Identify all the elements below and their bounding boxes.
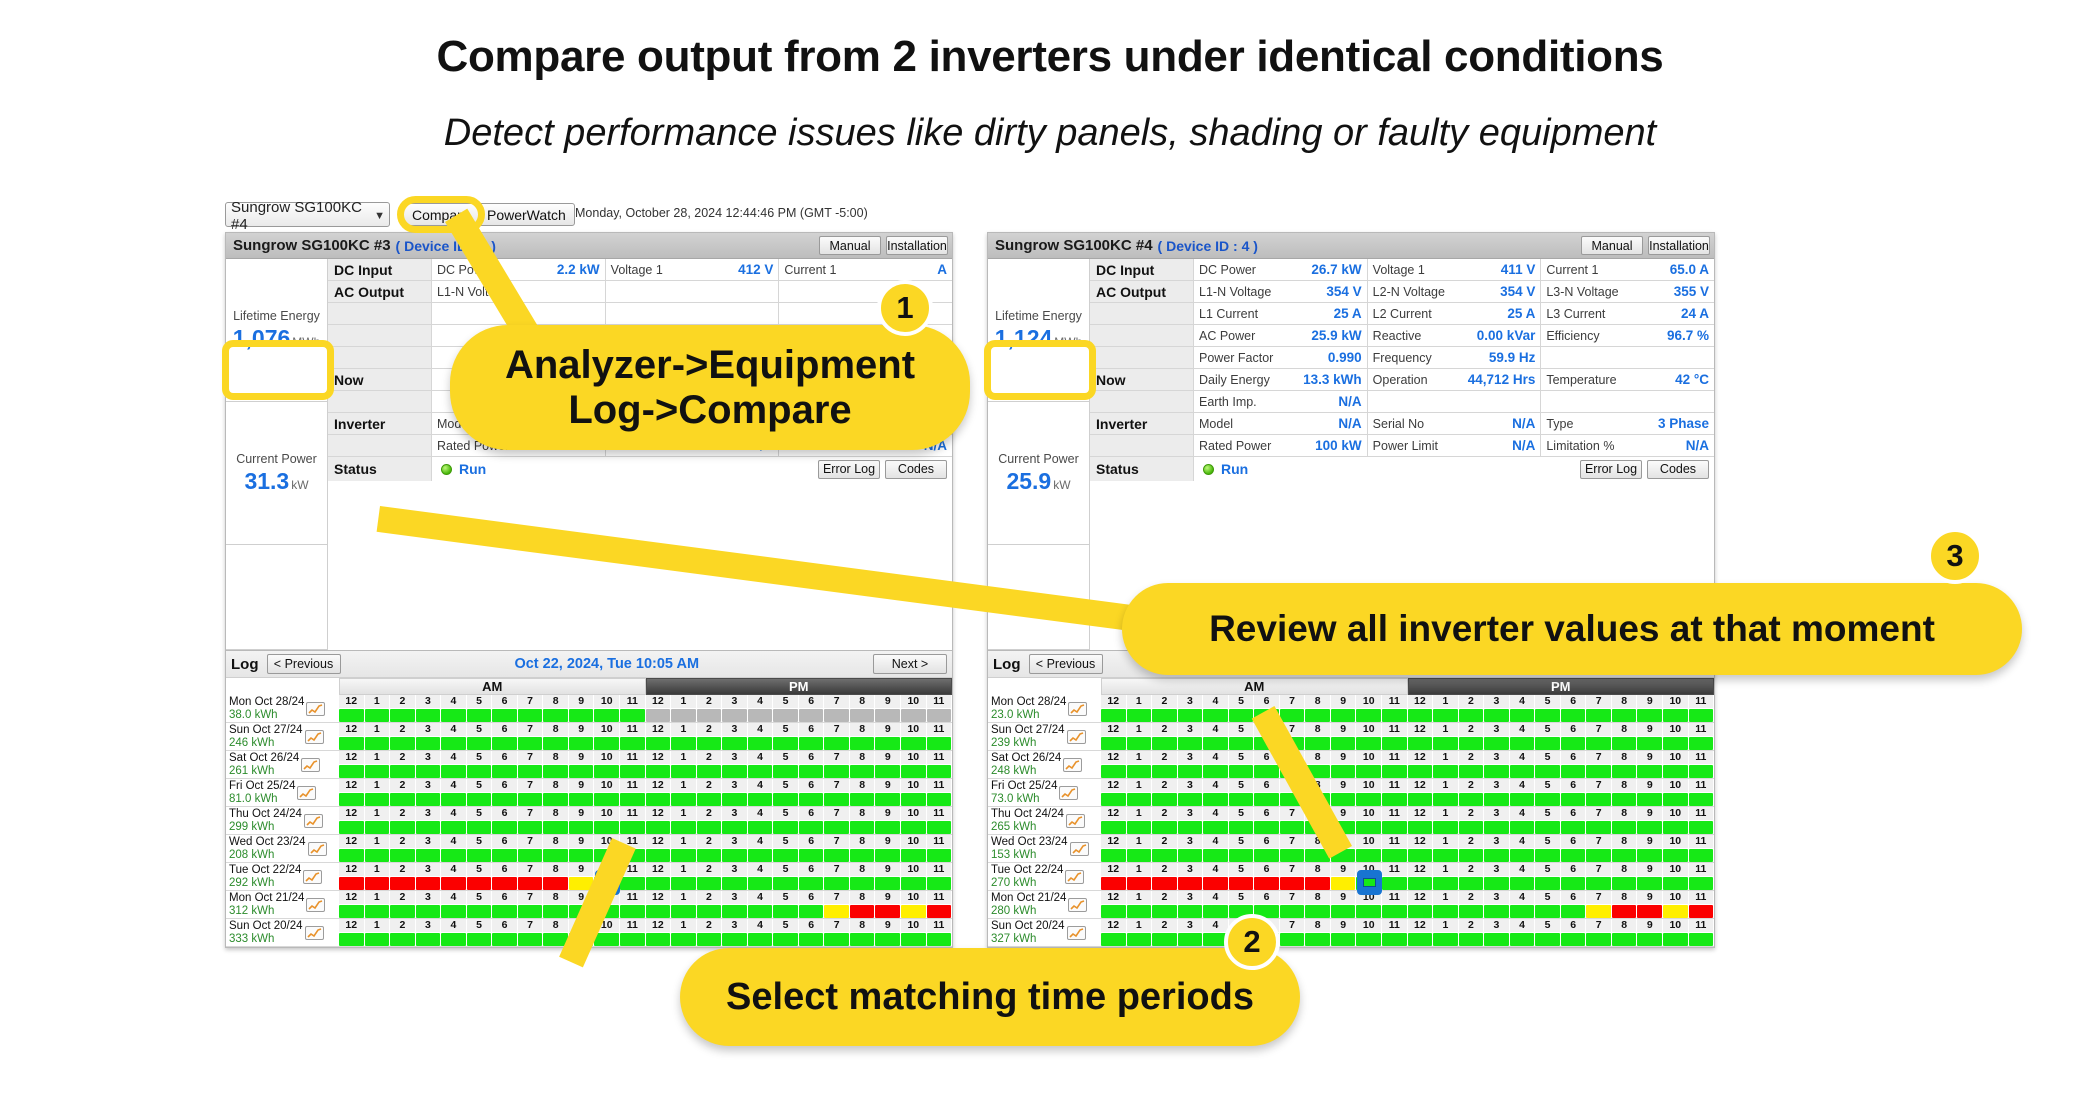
hour-bar[interactable] [492, 793, 517, 806]
hour-bar[interactable] [901, 765, 926, 778]
hour-bar[interactable] [1459, 905, 1484, 918]
hour-bar[interactable] [1510, 821, 1535, 834]
hour-bar[interactable] [594, 709, 619, 722]
hour-bar[interactable] [1229, 737, 1254, 750]
hour-bar[interactable] [492, 933, 517, 946]
hour-bar[interactable] [824, 877, 849, 890]
hour-bar[interactable] [1203, 793, 1228, 806]
hour-bar[interactable] [875, 933, 900, 946]
hour-bar[interactable] [1535, 905, 1560, 918]
hour-bar[interactable] [1178, 933, 1203, 946]
hour-bar[interactable] [339, 793, 364, 806]
hour-bar[interactable] [748, 793, 773, 806]
hour-bar[interactable] [1408, 933, 1433, 946]
hour-bar[interactable] [620, 821, 645, 834]
hour-bar[interactable] [441, 905, 466, 918]
hour-bar[interactable] [697, 905, 722, 918]
previous-button[interactable]: < Previous [267, 654, 341, 674]
hour-bar[interactable] [901, 849, 926, 862]
hour-bar[interactable] [1152, 793, 1177, 806]
hour-bar[interactable] [569, 765, 594, 778]
hour-bar[interactable] [1510, 765, 1535, 778]
trend-chart-icon[interactable] [303, 870, 322, 884]
hour-bar[interactable] [824, 849, 849, 862]
hour-bar[interactable] [1586, 905, 1611, 918]
hour-bar[interactable] [492, 877, 517, 890]
hour-bar[interactable] [390, 905, 415, 918]
hour-bar[interactable] [1331, 737, 1356, 750]
hour-bar[interactable] [748, 849, 773, 862]
hour-bar[interactable] [594, 821, 619, 834]
hour-bar[interactable] [773, 905, 798, 918]
hour-bar[interactable] [824, 933, 849, 946]
hour-bar[interactable] [1254, 793, 1279, 806]
hour-bar[interactable] [1356, 821, 1381, 834]
previous-button[interactable]: < Previous [1029, 654, 1103, 674]
hour-bar[interactable] [1408, 793, 1433, 806]
selected-hour-marker[interactable] [1357, 870, 1382, 895]
hour-bar[interactable] [365, 821, 390, 834]
hour-bar[interactable] [1612, 793, 1637, 806]
hour-bar[interactable] [748, 905, 773, 918]
hour-bar[interactable] [416, 877, 441, 890]
hour-bar[interactable] [1535, 793, 1560, 806]
hour-bar[interactable] [901, 877, 926, 890]
hour-bar[interactable] [1127, 793, 1152, 806]
hour-bar[interactable] [1561, 821, 1586, 834]
hour-bar[interactable] [1561, 905, 1586, 918]
hour-bar[interactable] [1637, 905, 1662, 918]
hour-bar[interactable] [1152, 877, 1177, 890]
hour-bar[interactable] [365, 765, 390, 778]
hour-bar[interactable] [1101, 849, 1126, 862]
hour-bar[interactable] [927, 821, 952, 834]
hour-bar[interactable] [1127, 877, 1152, 890]
hour-bar[interactable] [1689, 709, 1714, 722]
hour-bar[interactable] [1484, 821, 1509, 834]
hour-bar[interactable] [467, 793, 492, 806]
hour-bar[interactable] [901, 905, 926, 918]
hour-bar[interactable] [875, 765, 900, 778]
hour-bar[interactable] [1484, 849, 1509, 862]
hour-bar[interactable] [569, 793, 594, 806]
hour-bar[interactable] [365, 709, 390, 722]
hour-bar[interactable] [1101, 905, 1126, 918]
manual-button[interactable]: Manual [1581, 236, 1643, 255]
hour-bar[interactable] [441, 737, 466, 750]
hour-bar[interactable] [1254, 877, 1279, 890]
hour-bar[interactable] [441, 821, 466, 834]
hour-bar[interactable] [339, 709, 364, 722]
hour-bar[interactable] [646, 905, 671, 918]
hour-bar[interactable] [594, 737, 619, 750]
hour-bar[interactable] [390, 877, 415, 890]
hour-bar[interactable] [850, 737, 875, 750]
hour-bar[interactable] [748, 821, 773, 834]
hour-bar[interactable] [1408, 905, 1433, 918]
hour-bar[interactable] [518, 933, 543, 946]
hour-bar[interactable] [1152, 905, 1177, 918]
hour-bar[interactable] [850, 905, 875, 918]
hour-bar[interactable] [799, 905, 824, 918]
hour-bar[interactable] [1484, 737, 1509, 750]
trend-chart-icon[interactable] [1070, 842, 1089, 856]
hour-bar[interactable] [1152, 849, 1177, 862]
hour-bar[interactable] [1689, 765, 1714, 778]
hour-bar[interactable] [1408, 821, 1433, 834]
hour-bar[interactable] [1459, 849, 1484, 862]
trend-chart-icon[interactable] [306, 702, 325, 716]
hour-bar[interactable] [927, 905, 952, 918]
hour-bar[interactable] [1229, 765, 1254, 778]
hour-bar[interactable] [1331, 765, 1356, 778]
hour-bar[interactable] [620, 737, 645, 750]
trend-chart-icon[interactable] [1066, 814, 1085, 828]
hour-bar[interactable] [1203, 821, 1228, 834]
hour-bar[interactable] [1203, 849, 1228, 862]
hour-bar[interactable] [722, 905, 747, 918]
hour-bar[interactable] [365, 905, 390, 918]
hour-bar[interactable] [1356, 933, 1381, 946]
hour-bar[interactable] [620, 709, 645, 722]
hour-bar[interactable] [1203, 905, 1228, 918]
hour-bar[interactable] [1229, 821, 1254, 834]
hour-bar[interactable] [875, 793, 900, 806]
hour-bar[interactable] [1305, 933, 1330, 946]
hour-bar[interactable] [1382, 877, 1407, 890]
hour-bar[interactable] [543, 821, 568, 834]
hour-bar[interactable] [1331, 905, 1356, 918]
hour-bar[interactable] [1382, 933, 1407, 946]
hour-bar[interactable] [1101, 765, 1126, 778]
hour-bar[interactable] [824, 793, 849, 806]
hour-bar[interactable] [748, 765, 773, 778]
hour-bar[interactable] [1433, 709, 1458, 722]
hour-bar[interactable] [543, 793, 568, 806]
hour-bar[interactable] [1280, 933, 1305, 946]
hour-bar[interactable] [927, 933, 952, 946]
hour-bar[interactable] [467, 849, 492, 862]
hour-bar[interactable] [1612, 737, 1637, 750]
hour-bar[interactable] [518, 793, 543, 806]
hour-bar[interactable] [1612, 849, 1637, 862]
hour-bar[interactable] [339, 737, 364, 750]
hour-bar[interactable] [722, 821, 747, 834]
hour-bar[interactable] [799, 709, 824, 722]
hour-bar[interactable] [569, 709, 594, 722]
hour-bar[interactable] [1203, 709, 1228, 722]
hour-bar[interactable] [594, 765, 619, 778]
hour-bar[interactable] [1510, 793, 1535, 806]
hour-bar[interactable] [1203, 765, 1228, 778]
hour-bar[interactable] [339, 765, 364, 778]
hour-bar[interactable] [1561, 793, 1586, 806]
hour-bar[interactable] [1101, 877, 1126, 890]
hour-bar[interactable] [1689, 821, 1714, 834]
hour-bar[interactable] [594, 933, 619, 946]
hour-bar[interactable] [1127, 933, 1152, 946]
trend-chart-icon[interactable] [1063, 758, 1082, 772]
hour-bar[interactable] [1229, 709, 1254, 722]
hour-bar[interactable] [646, 877, 671, 890]
hour-bar[interactable] [543, 877, 568, 890]
hour-bar[interactable] [365, 933, 390, 946]
hour-bar[interactable] [1663, 737, 1688, 750]
hour-bar[interactable] [339, 933, 364, 946]
hour-bar[interactable] [1101, 793, 1126, 806]
hour-bar[interactable] [1637, 849, 1662, 862]
hour-bar[interactable] [927, 849, 952, 862]
hour-bar[interactable] [1612, 821, 1637, 834]
hour-bar[interactable] [1356, 737, 1381, 750]
hour-bar[interactable] [1637, 793, 1662, 806]
hour-bar[interactable] [390, 709, 415, 722]
hour-bar[interactable] [1561, 709, 1586, 722]
hour-bar[interactable] [901, 821, 926, 834]
hour-bar[interactable] [416, 905, 441, 918]
hour-bar[interactable] [646, 709, 671, 722]
hour-bar[interactable] [518, 737, 543, 750]
hour-bar[interactable] [1356, 849, 1381, 862]
hour-bar[interactable] [1612, 933, 1637, 946]
hour-bar[interactable] [1203, 877, 1228, 890]
hour-bar[interactable] [1101, 933, 1126, 946]
hour-bar[interactable] [875, 905, 900, 918]
hour-bar[interactable] [799, 849, 824, 862]
hour-bar[interactable] [1433, 765, 1458, 778]
hour-bar[interactable] [365, 737, 390, 750]
hour-bar[interactable] [416, 821, 441, 834]
hour-bar[interactable] [850, 709, 875, 722]
trend-chart-icon[interactable] [1068, 702, 1087, 716]
hour-bar[interactable] [1663, 793, 1688, 806]
hour-bar[interactable] [1689, 849, 1714, 862]
hour-bar[interactable] [799, 793, 824, 806]
hour-bar[interactable] [927, 737, 952, 750]
trend-chart-icon[interactable] [1065, 870, 1084, 884]
hour-bar[interactable] [1382, 821, 1407, 834]
hour-bar[interactable] [824, 821, 849, 834]
hour-bar[interactable] [1535, 737, 1560, 750]
hour-bar[interactable] [365, 793, 390, 806]
hour-bar[interactable] [875, 877, 900, 890]
hour-bar[interactable] [927, 709, 952, 722]
hour-bar[interactable] [671, 849, 696, 862]
hour-bar[interactable] [467, 905, 492, 918]
hour-bar[interactable] [1305, 877, 1330, 890]
hour-bar[interactable] [1152, 737, 1177, 750]
hour-bar[interactable] [1663, 877, 1688, 890]
hour-bar[interactable] [1561, 933, 1586, 946]
hour-bar[interactable] [1663, 765, 1688, 778]
hour-bar[interactable] [1535, 765, 1560, 778]
hour-bar[interactable] [1127, 765, 1152, 778]
hour-bar[interactable] [1510, 737, 1535, 750]
hour-bar[interactable] [1586, 709, 1611, 722]
hour-bar[interactable] [1433, 737, 1458, 750]
hour-bar[interactable] [339, 849, 364, 862]
hour-bar[interactable] [1663, 821, 1688, 834]
trend-chart-icon[interactable] [1067, 730, 1086, 744]
hour-bar[interactable] [1689, 877, 1714, 890]
hour-bar[interactable] [1535, 821, 1560, 834]
hour-bar[interactable] [1637, 737, 1662, 750]
hour-bar[interactable] [1586, 737, 1611, 750]
hour-bar[interactable] [697, 765, 722, 778]
hour-bar[interactable] [1689, 737, 1714, 750]
hour-bar[interactable] [1178, 793, 1203, 806]
hour-bar[interactable] [416, 737, 441, 750]
hour-bar[interactable] [1459, 933, 1484, 946]
hour-bar[interactable] [620, 765, 645, 778]
hour-bar[interactable] [1127, 737, 1152, 750]
hour-bar[interactable] [620, 905, 645, 918]
hour-bar[interactable] [901, 737, 926, 750]
hour-bar[interactable] [1637, 821, 1662, 834]
device-select[interactable]: Sungrow SG100KC #4 ▼ [225, 202, 390, 227]
hour-bar[interactable] [1510, 849, 1535, 862]
hour-bar[interactable] [1433, 793, 1458, 806]
hour-bar[interactable] [646, 737, 671, 750]
hour-bar[interactable] [697, 849, 722, 862]
hour-bar[interactable] [1356, 905, 1381, 918]
hour-bar[interactable] [1561, 849, 1586, 862]
hour-bar[interactable] [518, 709, 543, 722]
hour-bar[interactable] [416, 933, 441, 946]
hour-bar[interactable] [671, 877, 696, 890]
hour-bar[interactable] [1152, 765, 1177, 778]
hour-bar[interactable] [646, 765, 671, 778]
hour-bar[interactable] [697, 821, 722, 834]
hour-bar[interactable] [1356, 765, 1381, 778]
hour-bar[interactable] [390, 933, 415, 946]
hour-bar[interactable] [1178, 905, 1203, 918]
hour-bar[interactable] [1612, 709, 1637, 722]
hour-bar[interactable] [1433, 933, 1458, 946]
hour-bar[interactable] [620, 933, 645, 946]
hour-bar[interactable] [748, 709, 773, 722]
hour-bar[interactable] [1280, 821, 1305, 834]
hour-bar[interactable] [1254, 821, 1279, 834]
hour-bar[interactable] [1280, 709, 1305, 722]
hour-bar[interactable] [1408, 765, 1433, 778]
hour-bar[interactable] [824, 737, 849, 750]
hour-bar[interactable] [1637, 765, 1662, 778]
hour-bar[interactable] [1637, 709, 1662, 722]
hour-bar[interactable] [569, 849, 594, 862]
hour-bar[interactable] [441, 877, 466, 890]
hour-bar[interactable] [1127, 849, 1152, 862]
hour-bar[interactable] [518, 905, 543, 918]
hour-bar[interactable] [1382, 793, 1407, 806]
hour-bar[interactable] [1510, 933, 1535, 946]
hour-bar[interactable] [1280, 849, 1305, 862]
next-button[interactable]: Next > [873, 654, 947, 674]
hour-bar[interactable] [1459, 765, 1484, 778]
hour-bar[interactable] [927, 793, 952, 806]
hour-bar[interactable] [467, 933, 492, 946]
trend-chart-icon[interactable] [1068, 898, 1087, 912]
hour-bar[interactable] [492, 849, 517, 862]
hour-bar[interactable] [543, 737, 568, 750]
hour-bar[interactable] [1586, 849, 1611, 862]
hour-bar[interactable] [1459, 737, 1484, 750]
hour-bar[interactable] [1305, 709, 1330, 722]
hour-bar[interactable] [850, 933, 875, 946]
trend-chart-icon[interactable] [301, 758, 320, 772]
hour-bar[interactable] [467, 821, 492, 834]
hour-bar[interactable] [492, 821, 517, 834]
hour-bar[interactable] [850, 793, 875, 806]
hour-bar[interactable] [1484, 765, 1509, 778]
hour-bar[interactable] [1229, 877, 1254, 890]
hour-bar[interactable] [799, 765, 824, 778]
hour-bar[interactable] [1152, 821, 1177, 834]
hour-bar[interactable] [1586, 821, 1611, 834]
hour-bar[interactable] [773, 793, 798, 806]
hour-bar[interactable] [722, 709, 747, 722]
hour-bar[interactable] [1152, 933, 1177, 946]
hour-bar[interactable] [1535, 877, 1560, 890]
hour-bar[interactable] [518, 821, 543, 834]
hour-bar[interactable] [1254, 765, 1279, 778]
hour-bar[interactable] [543, 849, 568, 862]
hour-bar[interactable] [492, 737, 517, 750]
hour-bar[interactable] [1101, 821, 1126, 834]
hour-bar[interactable] [416, 709, 441, 722]
hour-bar[interactable] [1484, 877, 1509, 890]
installation-button[interactable]: Installation [886, 236, 948, 255]
hour-bar[interactable] [1663, 849, 1688, 862]
hour-bar[interactable] [441, 709, 466, 722]
hour-bar[interactable] [1637, 933, 1662, 946]
hour-bar[interactable] [594, 793, 619, 806]
hour-bar[interactable] [1152, 709, 1177, 722]
hour-bar[interactable] [1510, 709, 1535, 722]
hour-bar[interactable] [1305, 905, 1330, 918]
hour-bar[interactable] [1612, 765, 1637, 778]
hour-bar[interactable] [1178, 765, 1203, 778]
hour-bar[interactable] [875, 709, 900, 722]
hour-bar[interactable] [748, 933, 773, 946]
trend-chart-icon[interactable] [1059, 786, 1078, 800]
hour-bar[interactable] [1280, 877, 1305, 890]
hour-bar[interactable] [1382, 765, 1407, 778]
hour-bar[interactable] [1408, 849, 1433, 862]
hour-bar[interactable] [1382, 905, 1407, 918]
hour-bar[interactable] [441, 849, 466, 862]
hour-bar[interactable] [365, 877, 390, 890]
trend-chart-icon[interactable] [304, 814, 323, 828]
hour-bar[interactable] [773, 877, 798, 890]
trend-chart-icon[interactable] [1067, 926, 1086, 940]
hour-bar[interactable] [1433, 849, 1458, 862]
hour-bar[interactable] [1484, 793, 1509, 806]
hour-bar[interactable] [1561, 737, 1586, 750]
hour-bar[interactable] [1510, 877, 1535, 890]
hour-bar[interactable] [722, 793, 747, 806]
hour-bar[interactable] [875, 737, 900, 750]
hour-bar[interactable] [799, 821, 824, 834]
hour-bar[interactable] [646, 793, 671, 806]
hour-bar[interactable] [569, 737, 594, 750]
hour-bar[interactable] [467, 765, 492, 778]
hour-bar[interactable] [1663, 933, 1688, 946]
hour-bar[interactable] [1127, 709, 1152, 722]
hour-bar[interactable] [416, 765, 441, 778]
hour-bar[interactable] [1229, 793, 1254, 806]
hour-bar[interactable] [365, 849, 390, 862]
